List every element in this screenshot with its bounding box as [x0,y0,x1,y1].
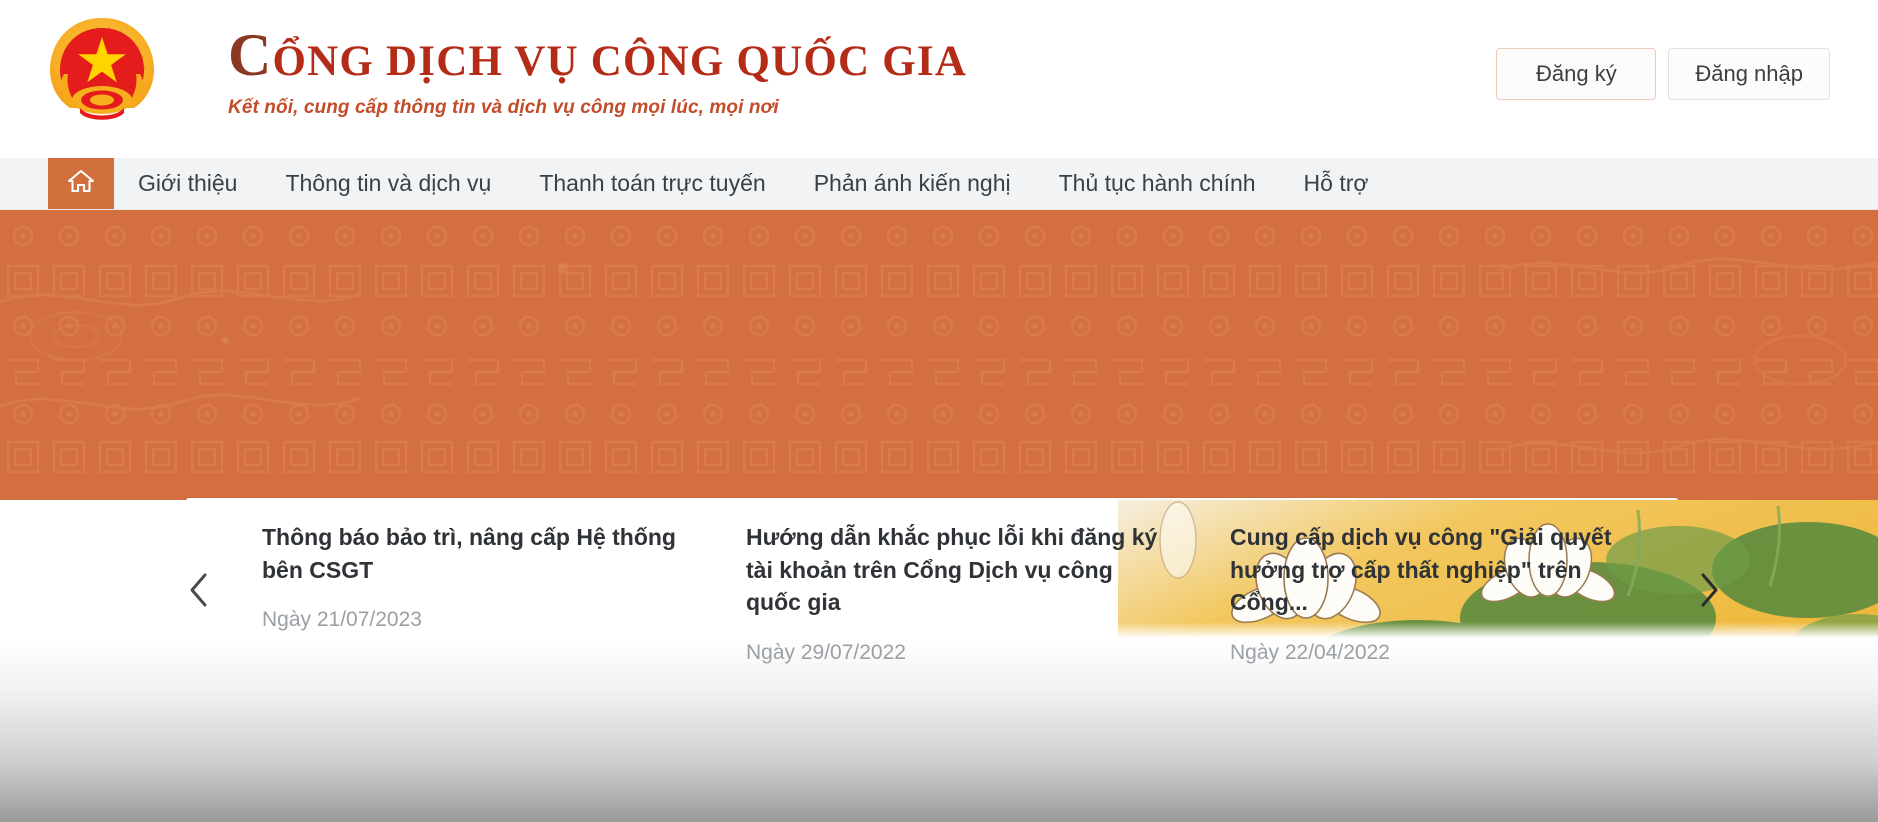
news-title: Hướng dẫn khắc phục lỗi khi đăng ký tài … [746,521,1162,619]
search-submit-button[interactable] [1602,498,1678,500]
nav-item-thanh-toan-truc-tuyen[interactable]: Thanh toán trực tuyến [515,158,789,209]
nav-item-thu-tuc-hanh-chinh[interactable]: Thủ tục hành chính [1035,158,1280,209]
advanced-search-button[interactable]: Tìm kiếm nâng cao [1357,498,1602,500]
login-button[interactable]: Đăng nhập [1668,48,1830,100]
search-bar: Tìm kiếm nâng cao [186,498,1678,500]
news-item-3[interactable]: Cung cấp dịch vụ công "Giải quyết hưởng … [1196,521,1680,665]
carousel-prev-button[interactable] [170,572,228,615]
chevron-right-icon [1698,572,1720,615]
search-input[interactable] [186,498,1357,500]
news-carousel: Thông báo bảo trì, nâng cấp Hệ thống bên… [0,500,1878,822]
news-item-1[interactable]: Thông báo bảo trì, nâng cấp Hệ thống bên… [228,521,712,665]
nav-item-list: Giới thiệu Thông tin và dịch vụ Thanh to… [114,158,1392,209]
site-title-initial: C [228,22,273,88]
carousel-next-button[interactable] [1680,572,1738,615]
nav-item-gioi-thieu[interactable]: Giới thiệu [114,158,261,209]
dong-son-pattern [0,210,1878,500]
page-root: CỔNG DỊCH VỤ CÔNG QUỐC GIA Kết nối, cung… [0,0,1878,822]
main-navigation: Giới thiệu Thông tin và dịch vụ Thanh to… [0,158,1878,210]
site-title: CỔNG DỊCH VỤ CÔNG QUỐC GIA [228,22,967,89]
nav-home-button[interactable] [48,158,114,209]
nav-item-thong-tin-va-dich-vu[interactable]: Thông tin và dịch vụ [261,158,515,209]
news-date: Ngày 22/04/2022 [1230,641,1646,665]
hero-banner: Recorded with iTop Screen Recorder Tìm k… [0,210,1878,500]
home-icon [67,168,95,199]
news-date: Ngày 21/07/2023 [262,608,678,632]
site-subtitle: Kết nối, cung cấp thông tin và dịch vụ c… [228,97,967,119]
nav-item-phan-anh-kien-nghi[interactable]: Phản ánh kiến nghị [790,158,1035,209]
news-row: Thông báo bảo trì, nâng cấp Hệ thống bên… [0,518,1878,668]
register-button[interactable]: Đăng ký [1496,48,1656,100]
site-header: CỔNG DỊCH VỤ CÔNG QUỐC GIA Kết nối, cung… [0,0,1878,158]
auth-buttons: Đăng ký Đăng nhập [1496,48,1830,100]
news-title: Cung cấp dịch vụ công "Giải quyết hưởng … [1230,521,1646,619]
site-title-rest: ỔNG DỊCH VỤ CÔNG QUỐC GIA [273,38,968,85]
news-item-2[interactable]: Hướng dẫn khắc phục lỗi khi đăng ký tài … [712,521,1196,665]
news-date: Ngày 29/07/2022 [746,641,1162,665]
news-title: Thông báo bảo trì, nâng cấp Hệ thống bên… [262,521,678,586]
brand-block: CỔNG DỊCH VỤ CÔNG QUỐC GIA Kết nối, cung… [228,22,967,119]
news-item-list: Thông báo bảo trì, nâng cấp Hệ thống bên… [228,521,1680,665]
nav-item-ho-tro[interactable]: Hỗ trợ [1280,158,1393,209]
chevron-left-icon [188,572,210,615]
national-emblem [40,12,164,124]
